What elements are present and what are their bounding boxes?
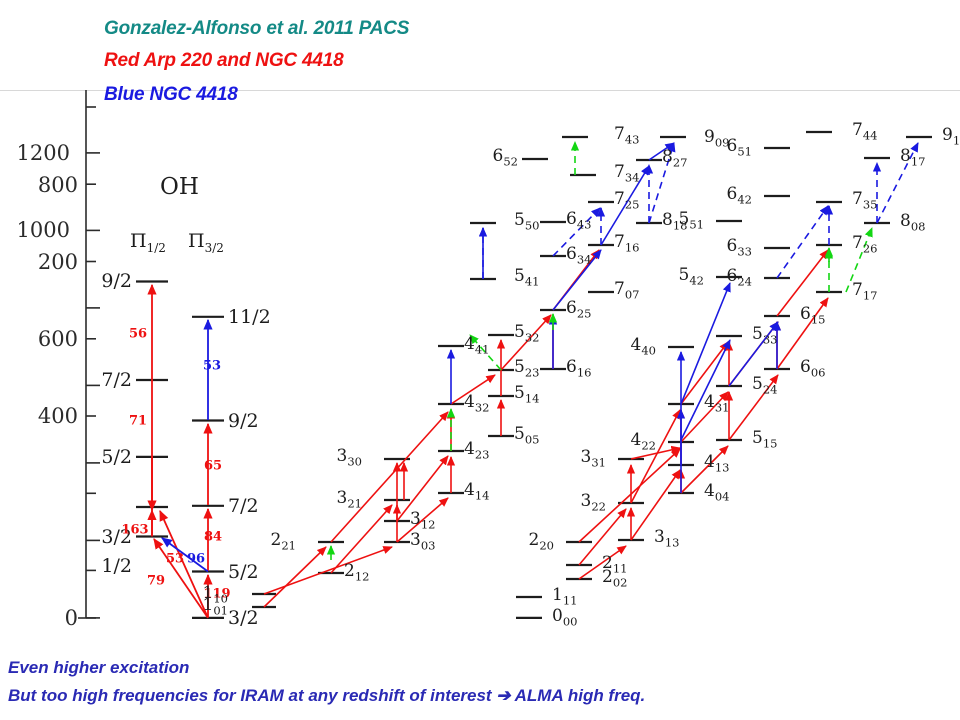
oh-level-label-pi12-9_2: 9/2 (101, 270, 132, 292)
level-label-para-322: 322 (581, 493, 606, 513)
ytick-label-400: 400 (0, 404, 78, 428)
level-label-ortho-441: 441 (464, 336, 489, 356)
oh-level-label-pi12-1_2: 1/2 (101, 555, 132, 577)
level-label-ortho-423: 423 (464, 441, 489, 461)
ytick-label-0: 0 (0, 606, 78, 630)
level-label-ortho-330: 330 (337, 448, 362, 468)
level-label-ortho-716: 716 (614, 234, 639, 254)
level-label-para-524: 524 (752, 376, 777, 396)
level-label-para-422: 422 (631, 432, 656, 452)
oh-transition-163: 163 (121, 523, 148, 538)
level-label-para-533: 533 (752, 326, 777, 346)
oh-transition-79: 79 (147, 574, 165, 589)
oh-level-label-pi32-9_2: 9/2 (228, 410, 259, 432)
level-label-ortho-432: 432 (464, 394, 489, 414)
level-label-para-642: 642 (727, 186, 752, 206)
footer-line-2: But too high frequencies for IRAM at any… (8, 686, 645, 706)
level-label-ortho-625: 625 (566, 300, 591, 320)
level-label-para-440: 440 (631, 337, 656, 357)
level-label-para-515: 515 (752, 430, 777, 450)
level-label-para-413: 413 (704, 454, 729, 474)
level-label-ortho-743: 743 (614, 126, 639, 146)
level-label-para-919: 919 (942, 127, 960, 147)
level-label-para-000: 000 (552, 608, 577, 628)
level-label-para-606: 606 (800, 359, 825, 379)
level-label-para-717: 717 (852, 282, 877, 302)
level-label-para-808: 808 (900, 213, 925, 233)
level-label-para-735: 735 (852, 191, 877, 211)
level-label-ortho-312: 312 (410, 511, 435, 531)
level-label-para-431: 431 (704, 394, 729, 414)
level-label-para-615: 615 (800, 306, 825, 326)
oh-transition-84: 84 (204, 530, 222, 545)
oh-level-label-pi32-3_2: 3/2 (228, 607, 259, 629)
level-label-para-111: 111 (552, 587, 577, 607)
level-label-para-404: 404 (704, 483, 729, 503)
oh-transition-71: 71 (129, 414, 147, 429)
ytick-label-600: 600 (0, 327, 78, 351)
level-label-ortho-514: 514 (514, 386, 539, 406)
oh-transition-96: 96 (187, 552, 205, 567)
oh-ladder-label-pi12: Π1/2 (130, 230, 166, 255)
level-label-ortho-652: 652 (493, 148, 518, 168)
ytick-label-200: 200 (0, 250, 78, 274)
level-label-para-542: 542 (679, 267, 704, 287)
level-label-para-313: 313 (654, 529, 679, 549)
level-label-para-220: 220 (529, 532, 554, 552)
level-label-ortho-541: 541 (514, 268, 539, 288)
oh-level-label-pi32-7_2: 7/2 (228, 495, 259, 517)
oh-transition-53r: 53 (166, 552, 184, 567)
oh-transitions (152, 285, 208, 618)
slide-root: Gonzalez-Alfonso et al. 2011 PACS Red Ar… (0, 0, 960, 720)
ortho-h2o-transitions (264, 142, 674, 607)
level-label-ortho-221: 221 (271, 532, 296, 552)
level-label-para-744: 744 (852, 122, 877, 142)
oh-transition-53b: 53 (203, 359, 221, 374)
oh-level-label-pi32-5_2: 5/2 (228, 561, 259, 583)
footer-line-1: Even higher excitation (8, 658, 189, 678)
level-label-ortho-634: 634 (566, 246, 591, 266)
oh-level-label-pi32-11_2: 11/2 (228, 306, 271, 328)
oh-transition-65: 65 (204, 459, 222, 474)
oh-level-label-pi12-5_2: 5/2 (101, 446, 132, 468)
level-label-ortho-303: 303 (410, 532, 435, 552)
level-label-ortho-550: 550 (514, 212, 539, 232)
level-label-ortho-110: 110 (203, 585, 228, 605)
level-label-ortho-725: 725 (614, 191, 639, 211)
oh-transition-56: 56 (129, 327, 147, 342)
level-label-para-551: 551 (679, 211, 704, 231)
level-label-ortho-616: 616 (566, 359, 591, 379)
level-label-ortho-523: 523 (514, 359, 539, 379)
oh-level-label-pi12-7_2: 7/2 (101, 369, 132, 391)
level-label-ortho-734: 734 (614, 164, 639, 184)
level-label-ortho-321: 321 (337, 490, 362, 510)
oh-ladder-label-pi32: Π3/2 (188, 230, 224, 255)
level-label-para-624: 624 (727, 268, 752, 288)
ytick-label-1200: 1200 (0, 141, 70, 165)
ytick-label-800: 800 (0, 173, 78, 197)
level-label-ortho-707: 707 (614, 281, 639, 301)
molecule-label-oh: OH (160, 174, 199, 200)
level-label-ortho-212: 212 (344, 563, 369, 583)
level-label-para-331: 331 (581, 449, 606, 469)
level-label-ortho-827: 827 (662, 149, 687, 169)
level-label-para-651: 651 (727, 138, 752, 158)
level-label-para-633: 633 (727, 238, 752, 258)
level-label-para-211: 211 (602, 555, 627, 575)
level-label-ortho-414: 414 (464, 482, 489, 502)
level-label-ortho-505: 505 (514, 426, 539, 446)
level-label-ortho-643: 643 (566, 212, 591, 232)
level-label-ortho-532: 532 (514, 324, 539, 344)
level-label-para-726: 726 (852, 235, 877, 255)
ytick-label-1000: 1000 (0, 218, 70, 242)
y-axis (78, 90, 100, 618)
level-label-para-817: 817 (900, 148, 925, 168)
